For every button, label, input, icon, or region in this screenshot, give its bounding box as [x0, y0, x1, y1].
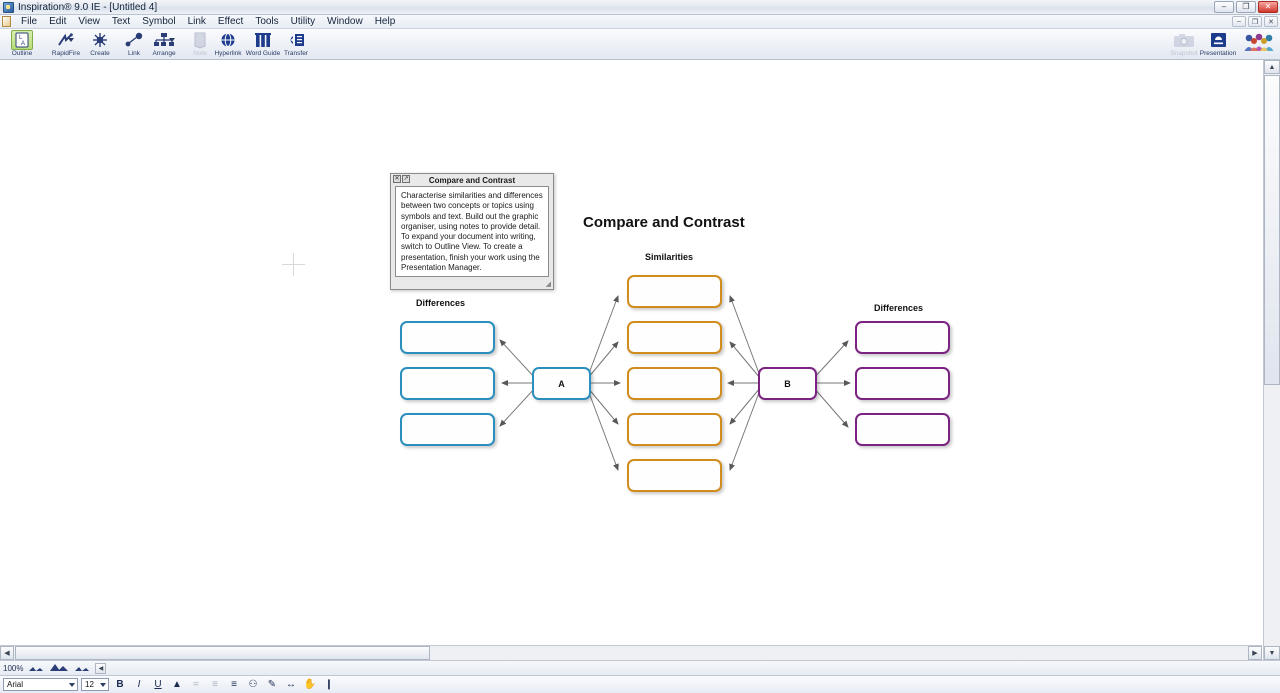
- center-node-b[interactable]: B: [758, 367, 817, 400]
- document-close-button[interactable]: ✕: [1264, 16, 1278, 27]
- font-size-value: 12: [85, 680, 94, 689]
- scroll-left-icon[interactable]: ◀: [95, 663, 106, 674]
- hyperlink-icon: [220, 30, 236, 50]
- similarity-box-3[interactable]: [627, 367, 722, 400]
- right-difference-box-1[interactable]: [855, 321, 950, 354]
- align-button[interactable]: ≡: [226, 677, 242, 692]
- teacher-group-icon: [1243, 32, 1277, 52]
- toolbar-label-rapidfire: RapidFire: [52, 50, 80, 58]
- camera-icon: [1173, 30, 1195, 50]
- horizontal-scroll-thumb[interactable]: [15, 646, 430, 660]
- menu-item-link[interactable]: Link: [182, 15, 212, 28]
- minimize-button[interactable]: –: [1214, 1, 1234, 13]
- similarity-box-2[interactable]: [627, 321, 722, 354]
- heading-similarities[interactable]: Similarities: [645, 252, 693, 262]
- scroll-left-button[interactable]: ◀: [0, 646, 14, 660]
- menu-item-effect[interactable]: Effect: [212, 15, 249, 28]
- font-family-select[interactable]: Arial: [3, 678, 78, 691]
- arrange-width-button[interactable]: ↔: [283, 677, 299, 692]
- crosshair-cursor: [282, 253, 305, 276]
- vertical-scrollbar[interactable]: ▲ ▼: [1263, 60, 1280, 660]
- scroll-right-button[interactable]: ▶: [1248, 646, 1262, 660]
- chevron-down-icon: [69, 683, 75, 687]
- document-icon: [2, 16, 11, 27]
- outline-icon: LA: [11, 30, 33, 50]
- toolbar-label-presentation: Presentation: [1200, 50, 1237, 58]
- close-button[interactable]: ✕: [1258, 1, 1278, 13]
- strikethrough-button[interactable]: ≈: [188, 677, 204, 692]
- toolbar-button-teacher-group[interactable]: [1238, 32, 1280, 61]
- font-family-value: Arial: [7, 680, 23, 689]
- link-icon: [124, 30, 144, 50]
- document-minimize-button[interactable]: –: [1232, 16, 1246, 27]
- menu-item-tools[interactable]: Tools: [249, 15, 284, 28]
- window-controls: – ❐ ✕: [1214, 1, 1278, 13]
- text-color-button[interactable]: ▲: [169, 677, 185, 692]
- app-icon: [3, 2, 14, 13]
- resize-grip-icon[interactable]: ◢: [546, 281, 551, 288]
- format-toolbar: Arial 12 B I U ▲ ≈ ≡ ≡ ⚇ ✎ ↔ ✋ ❙: [0, 675, 1280, 693]
- similarity-box-5[interactable]: [627, 459, 722, 492]
- document-restore-button[interactable]: ❐: [1248, 16, 1262, 27]
- toolbar-label-hyperlink: Hyperlink: [214, 50, 241, 58]
- font-size-select[interactable]: 12: [81, 678, 109, 691]
- svg-text:A: A: [21, 41, 25, 47]
- line-spacing-button[interactable]: ≡: [207, 677, 223, 692]
- line-weight-button[interactable]: ❙: [321, 677, 337, 692]
- zoom-level-label: 100%: [3, 664, 23, 673]
- menu-item-utility[interactable]: Utility: [285, 15, 321, 28]
- toolbar-button-outline[interactable]: LA Outline: [0, 30, 44, 59]
- fill-color-button[interactable]: ✎: [264, 677, 280, 692]
- menu-item-file[interactable]: File: [15, 15, 43, 28]
- toolbar-button-transfer[interactable]: Transfer: [274, 30, 318, 59]
- bold-button[interactable]: B: [112, 677, 128, 692]
- toolbar-label-outline: Outline: [12, 50, 33, 58]
- left-difference-box-3[interactable]: [400, 413, 495, 446]
- menu-item-symbol[interactable]: Symbol: [136, 15, 181, 28]
- arrange-dropdown-arrow-icon[interactable]: [169, 38, 175, 42]
- heading-right-differences[interactable]: Differences: [874, 303, 923, 313]
- similarity-box-4[interactable]: [627, 413, 722, 446]
- heading-left-differences[interactable]: Differences: [416, 298, 465, 308]
- diagram-title[interactable]: Compare and Contrast: [583, 214, 745, 231]
- window-title: Inspiration® 9.0 IE - [Untitled 4]: [18, 2, 157, 13]
- left-difference-box-2[interactable]: [400, 367, 495, 400]
- diagram-canvas[interactable]: ✕ ↗ Compare and Contrast Characterise si…: [0, 60, 1262, 660]
- toolbar-label-arrange: Arrange: [152, 50, 175, 58]
- menu-item-edit[interactable]: Edit: [43, 15, 72, 28]
- note-body-text[interactable]: Characterise similarities and difference…: [395, 186, 549, 277]
- note-window[interactable]: ✕ ↗ Compare and Contrast Characterise si…: [390, 173, 554, 290]
- note-header-buttons: ✕ ↗: [393, 175, 410, 183]
- note-close-icon[interactable]: ✕: [393, 175, 401, 183]
- toolbar-label-note: Note: [193, 50, 207, 58]
- left-difference-box-1[interactable]: [400, 321, 495, 354]
- create-icon: [90, 30, 110, 50]
- hand-tool-button[interactable]: ✋: [302, 677, 318, 692]
- note-title: Compare and Contrast: [429, 176, 515, 185]
- toolbar-label-transfer: Transfer: [284, 50, 308, 58]
- center-node-a[interactable]: A: [532, 367, 591, 400]
- chevron-down-icon: [100, 683, 106, 687]
- toolbar-label-link: Link: [128, 50, 140, 58]
- menu-item-text[interactable]: Text: [106, 15, 136, 28]
- toolbar-button-presentation[interactable]: Presentation: [1196, 30, 1240, 59]
- menu-bar: File Edit View Text Symbol Link Effect T…: [0, 15, 1280, 29]
- word-guide-icon: [254, 30, 272, 50]
- right-difference-box-2[interactable]: [855, 367, 950, 400]
- position-button[interactable]: ⚇: [245, 677, 261, 692]
- main-toolbar: LA Outline RapidFire Create Link: [0, 29, 1280, 60]
- presentation-icon: [1210, 30, 1227, 50]
- transfer-icon: [286, 30, 306, 50]
- italic-button[interactable]: I: [131, 677, 147, 692]
- restore-button[interactable]: ❐: [1236, 1, 1256, 13]
- underline-button[interactable]: U: [150, 677, 166, 692]
- rapidfire-dropdown-arrow-icon[interactable]: [68, 38, 74, 42]
- toolbar-label-snapshot: Snapshot: [1170, 50, 1197, 58]
- menu-item-window[interactable]: Window: [321, 15, 369, 28]
- link-lines: [0, 60, 1262, 660]
- similarity-box-1[interactable]: [627, 275, 722, 308]
- scroll-down-button[interactable]: ▼: [1264, 646, 1280, 660]
- right-difference-box-3[interactable]: [855, 413, 950, 446]
- menu-item-view[interactable]: View: [72, 15, 106, 28]
- vertical-scroll-thumb[interactable]: [1264, 75, 1280, 385]
- toolbar-label-create: Create: [90, 50, 110, 58]
- note-header: ✕ ↗ Compare and Contrast: [391, 174, 553, 186]
- zoom-status-bar: 100% ◀: [0, 660, 1280, 675]
- horizontal-scrollbar[interactable]: ◀ ▶: [0, 645, 1262, 660]
- note-expand-icon[interactable]: ↗: [402, 175, 410, 183]
- window-title-bar: Inspiration® 9.0 IE - [Untitled 4] – ❐ ✕: [0, 0, 1280, 15]
- scroll-up-button[interactable]: ▲: [1264, 60, 1280, 74]
- document-window-controls: – ❐ ✕: [1232, 16, 1278, 27]
- menu-item-help[interactable]: Help: [369, 15, 402, 28]
